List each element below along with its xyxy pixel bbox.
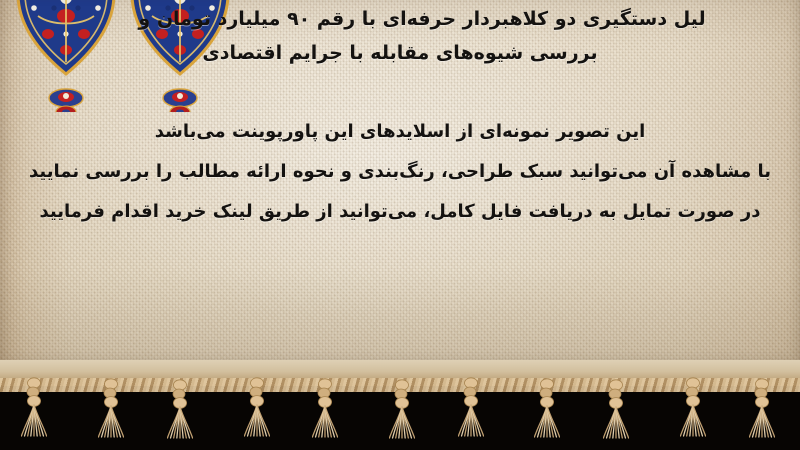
slide-body: این تصویر نمونه‌ای از اسلایدهای این پاور…: [0, 112, 800, 232]
body-line-2: با مشاهده آن می‌توانید سبک طراحی، رنگ‌بن…: [0, 152, 800, 192]
title-line-1: لیل دستگیری دو کلاهبردار حرفه‌ای با رقم …: [0, 2, 800, 36]
fringe-tassel: [534, 377, 560, 439]
fringe-tassel: [167, 378, 193, 440]
title-line-2: بررسی شیوه‌های مقابله با جرایم اقتصادی: [0, 36, 800, 70]
fringe-tassel: [680, 376, 706, 438]
fringe-tassel: [312, 377, 338, 439]
fringe-tassel: [458, 376, 484, 438]
body-line-1: این تصویر نمونه‌ای از اسلایدهای این پاور…: [0, 112, 800, 152]
slide-title: لیل دستگیری دو کلاهبردار حرفه‌ای با رقم …: [0, 2, 800, 70]
fringe-tassel: [389, 378, 415, 440]
fringe-tassel: [21, 376, 47, 438]
presentation-slide: لیل دستگیری دو کلاهبردار حرفه‌ای با رقم …: [0, 0, 800, 450]
fringe-tassel: [749, 377, 775, 439]
fringe-tassel: [98, 377, 124, 439]
fringe-tassel: [244, 376, 270, 438]
carpet-fringe-tassels: [0, 360, 800, 450]
fringe-tassel: [603, 378, 629, 440]
body-line-3: در صورت تمایل به دریافت فایل کامل، می‌تو…: [0, 192, 800, 232]
